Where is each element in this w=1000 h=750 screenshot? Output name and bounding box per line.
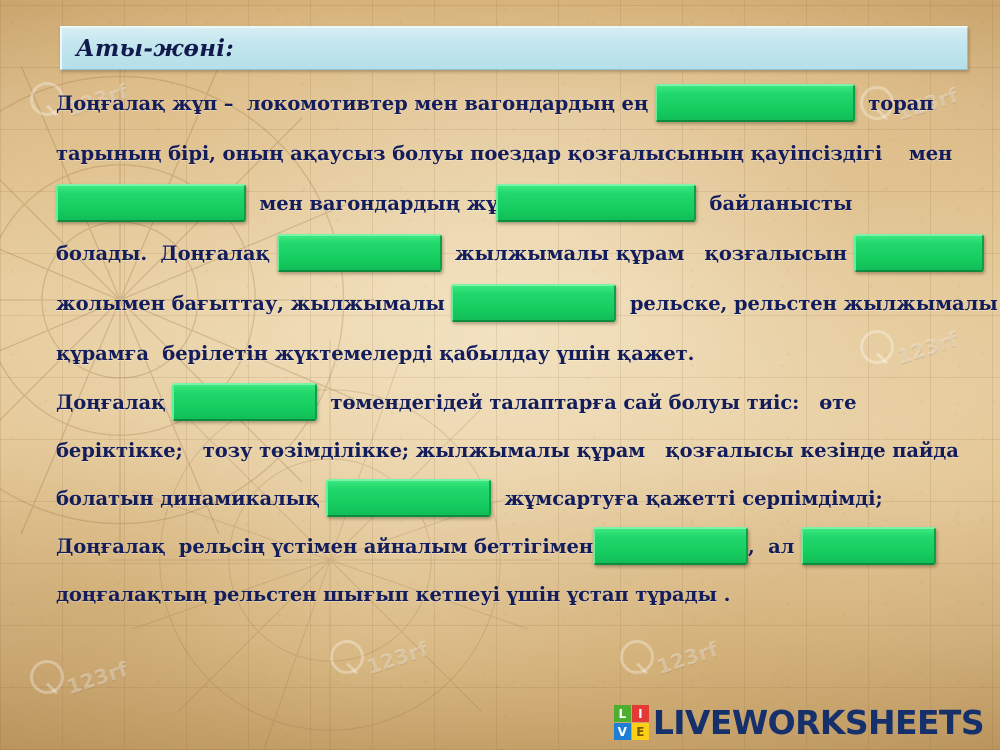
text-line: Доңғалақ жұп – локомотивтер мен вагондар… [56, 78, 988, 128]
liveworksheets-logo: L I V E LIVEWORKSHEETS [614, 705, 984, 740]
text-line: тарының бірі, оның ақаусыз болуы поездар… [56, 128, 988, 178]
text-fragment: төмендегідей талаптарға сай болуы тиіс: … [317, 391, 856, 414]
answer-blank-input[interactable] [56, 184, 246, 222]
watermark-text: 123rf [364, 637, 431, 679]
text-fragment: беріктікке; тозу төзімділікке; жылжымалы… [56, 439, 959, 462]
text-fragment: Доңғалақ жұп – локомотивтер мен вагондар… [56, 92, 655, 115]
text-line: жолымен бағыттау, жылжымалы рельске, рел… [56, 278, 988, 328]
text-fragment: жылжымалы құрам қозғалысын [442, 242, 854, 265]
logo-square-l: L [614, 705, 631, 722]
logo-square-i: I [632, 705, 649, 722]
text-fragment: тарының бірі, оның ақаусыз болуы поездар… [56, 142, 952, 165]
answer-blank-input[interactable] [593, 527, 748, 565]
text-fragment: доңғалақтың рельстен шығып кетпеуі үшін … [56, 583, 730, 606]
text-line: болатын динамикалық жұмсартуға қажетті с… [56, 474, 988, 522]
watermark-icon [330, 640, 364, 674]
text-fragment: байланысты [696, 192, 852, 215]
logo-square-v: V [614, 723, 631, 740]
text-line: болады. Доңғалақ жылжымалы құрам қозғалы… [56, 228, 988, 278]
text-fragment: Доңғалақ [56, 391, 172, 414]
watermark-text: 123rf [654, 637, 721, 679]
text-fragment: жұмсартуға қажетті серпімдімді; [491, 487, 882, 510]
text-line: беріктікке; тозу төзімділікке; жылжымалы… [56, 426, 988, 474]
liveworksheets-logo-squares: L I V E [614, 705, 649, 740]
text-fragment: Доңғалақ рельсің үстімен айналым беттігі… [56, 535, 593, 558]
text-line: мен вагондардың жұмыс к байланысты [56, 178, 988, 228]
text-line: доңғалақтың рельстен шығып кетпеуі үшін … [56, 570, 988, 618]
watermark-icon [620, 640, 654, 674]
exercise-text-body: Доңғалақ жұп – локомотивтер мен вагондар… [56, 78, 988, 618]
text-fragment: рельске, рельстен жылжымалы [616, 292, 997, 315]
answer-blank-input[interactable] [326, 479, 491, 517]
answer-blank-input[interactable] [854, 234, 984, 272]
text-fragment: , ал [748, 535, 801, 558]
watermark-icon [30, 660, 64, 694]
text-fragment: құрамға берілетін жүктемелерді қабылдау … [56, 342, 694, 365]
worksheet-page: 123rf123rf123rf123rf123rf123rf Аты-жөні:… [0, 0, 1000, 750]
liveworksheets-wordmark: LIVEWORKSHEETS [653, 706, 984, 739]
text-fragment: жолымен бағыттау, жылжымалы [56, 292, 451, 315]
logo-square-e: E [632, 723, 649, 740]
text-line: Доңғалақ рельсің үстімен айналым беттігі… [56, 522, 988, 570]
answer-blank-input[interactable] [451, 284, 616, 322]
student-name-label: Аты-жөні: [76, 35, 234, 62]
text-fragment: болады. Доңғалақ [56, 242, 277, 265]
answer-blank-input[interactable] [172, 383, 317, 421]
text-fragment: торап [855, 92, 934, 115]
watermark-text: 123rf [64, 657, 131, 699]
text-line: Доңғалақ төмендегідей талаптарға сай бол… [56, 378, 988, 426]
text-line: құрамға берілетін жүктемелерді қабылдау … [56, 328, 988, 378]
text-fragment: болатын динамикалық [56, 487, 326, 510]
answer-blank-input[interactable] [801, 527, 936, 565]
answer-blank-input[interactable] [496, 184, 696, 222]
student-name-bar[interactable]: Аты-жөні: [60, 26, 968, 70]
answer-blank-input[interactable] [277, 234, 442, 272]
answer-blank-input[interactable] [655, 84, 855, 122]
